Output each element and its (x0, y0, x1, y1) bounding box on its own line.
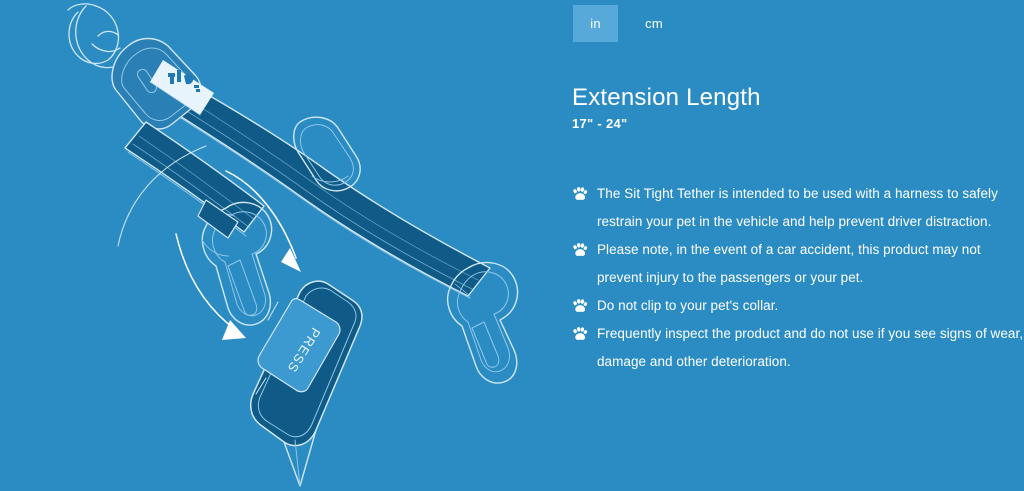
note-text: Please note, in the event of a car accid… (597, 242, 981, 285)
list-item: The Sit Tight Tether is intended to be u… (572, 180, 1024, 236)
seatbelt-buckle: PRESS (251, 281, 362, 486)
spec-details: in cm Extension Length 17" - 24" (560, 0, 1024, 491)
paw-print-icon (572, 298, 588, 314)
list-item: Do not clip to your pet's collar. (572, 292, 1024, 320)
list-item: Please note, in the event of a car accid… (572, 236, 1024, 292)
paw-print-icon (572, 242, 588, 258)
product-notes-list: The Sit Tight Tether is intended to be u… (572, 180, 1024, 376)
unit-toggle-group[interactable]: in cm (573, 5, 677, 42)
product-illustration: PRESS (0, 0, 560, 491)
page-title: Extension Length (572, 84, 761, 112)
note-text: The Sit Tight Tether is intended to be u… (597, 186, 998, 229)
paw-print-icon (572, 186, 588, 202)
note-text: Do not clip to your pet's collar. (597, 298, 778, 313)
unit-toggle-cm[interactable]: cm (631, 5, 677, 42)
extension-length-value: 17" - 24" (572, 115, 628, 133)
unit-toggle-in[interactable]: in (573, 5, 618, 42)
list-item: Frequently inspect the product and do no… (572, 320, 1024, 376)
paw-print-icon (572, 326, 588, 342)
note-text: Frequently inspect the product and do no… (597, 326, 1023, 369)
tether-diagram-svg: PRESS (0, 0, 560, 491)
product-spec-panel: PRESS (0, 0, 1024, 491)
